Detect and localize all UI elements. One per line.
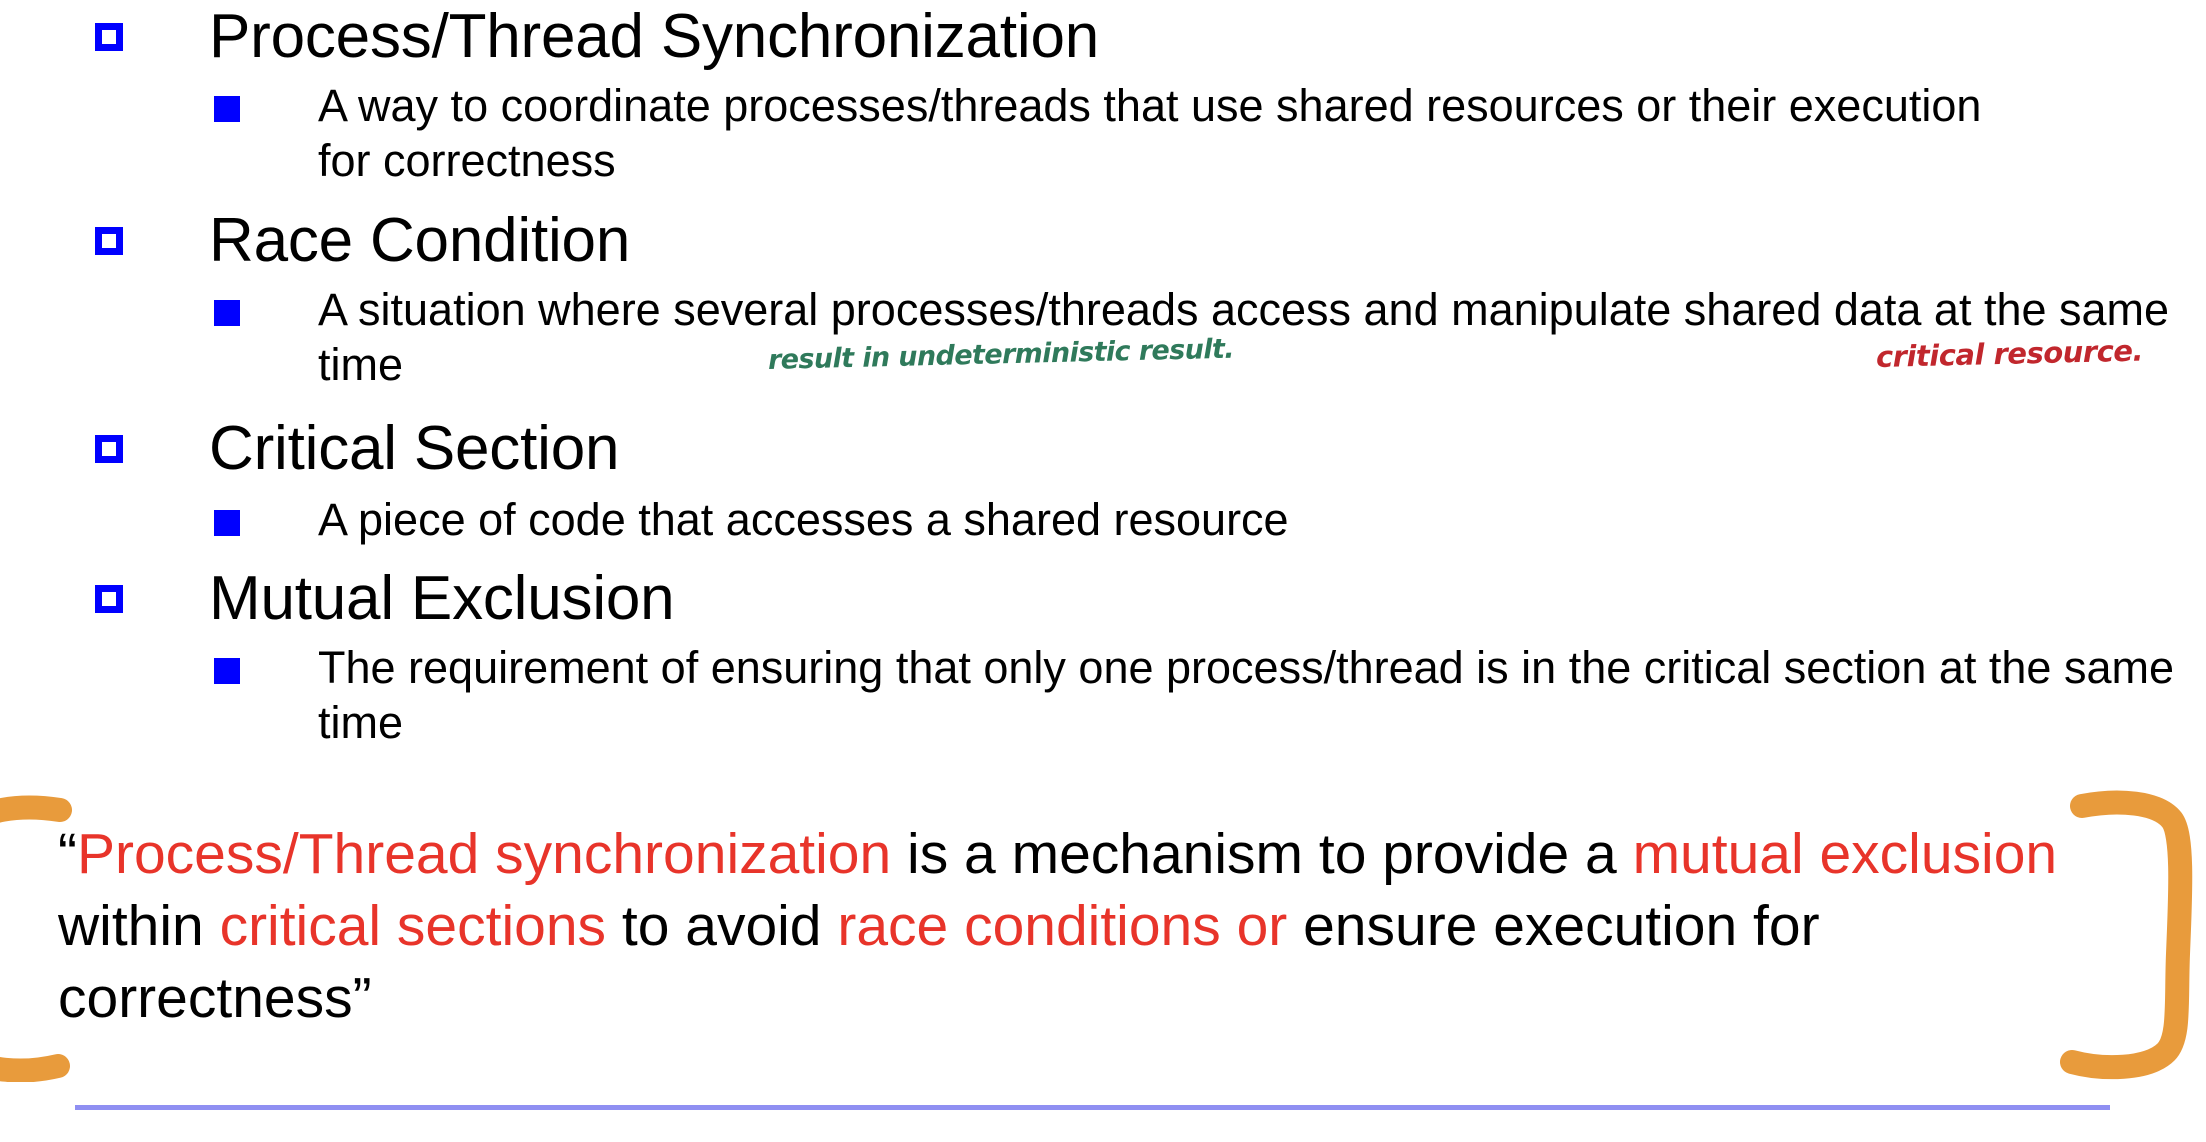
hollow-square-bullet-icon — [95, 227, 123, 255]
slide-canvas: Process/Thread Synchronization A way to … — [0, 0, 2206, 1142]
quote-text: “Process/Thread synchronization is a mec… — [58, 818, 2098, 1034]
quote-callout: “Process/Thread synchronization is a mec… — [0, 818, 2206, 1078]
quote-close-quote: ” — [353, 966, 372, 1030]
filled-square-bullet-icon — [214, 658, 240, 684]
quote-segment-1: Process/Thread synchronization — [77, 822, 891, 886]
quote-segment-7: race conditions or — [837, 894, 1287, 958]
outline-subitem-process-thread-synchronization[interactable]: A way to coordinate processes/threads th… — [0, 78, 2206, 190]
outline-heading: Race Condition — [209, 202, 630, 280]
quote-segment-6: to avoid — [606, 894, 837, 958]
outline-subitem-text: A way to coordinate processes/threads th… — [318, 78, 2018, 188]
quote-open-quote: “ — [58, 822, 77, 886]
outline-heading: Process/Thread Synchronization — [209, 0, 1099, 76]
quote-segment-2: is a mechanism to provide a — [891, 822, 1632, 886]
outline-item-critical-section[interactable]: Critical Section — [0, 416, 2206, 494]
outline-heading: Critical Section — [209, 410, 619, 488]
outline-heading: Mutual Exclusion — [209, 560, 674, 638]
quote-segment-3: mutual exclusion — [1633, 822, 2058, 886]
outline-subitem-text: A situation where several processes/thre… — [318, 282, 2178, 392]
outline-item-process-thread-synchronization[interactable]: Process/Thread Synchronization — [0, 4, 2206, 82]
handwritten-note-red: critical resource. — [1876, 333, 2144, 374]
outline-item-race-condition[interactable]: Race Condition — [0, 208, 2206, 286]
outline-subitem-mutual-exclusion[interactable]: The requirement of ensuring that only on… — [0, 640, 2206, 752]
filled-square-bullet-icon — [214, 510, 240, 536]
outline-subitem-text: A piece of code that accesses a shared r… — [318, 492, 2018, 547]
hollow-square-bullet-icon — [95, 23, 123, 51]
outline-subitem-text: The requirement of ensuring that only on… — [318, 640, 2206, 750]
quote-segment-5: critical sections — [220, 894, 606, 958]
footer-divider — [75, 1105, 2110, 1110]
outline-item-mutual-exclusion[interactable]: Mutual Exclusion — [0, 566, 2206, 644]
hollow-square-bullet-icon — [95, 435, 123, 463]
filled-square-bullet-icon — [214, 300, 240, 326]
quote-segment-4: within — [58, 894, 220, 958]
hollow-square-bullet-icon — [95, 585, 123, 613]
outline-subitem-critical-section[interactable]: A piece of code that accesses a shared r… — [0, 492, 2206, 552]
filled-square-bullet-icon — [214, 96, 240, 122]
